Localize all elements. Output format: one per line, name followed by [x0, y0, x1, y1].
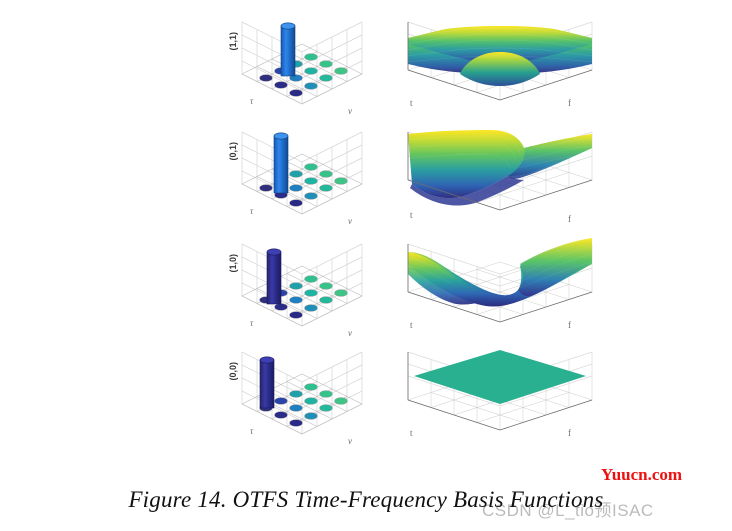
stem-plot-4: τ ν [220, 338, 390, 448]
stem-axis-label-nu-4: ν [348, 436, 352, 446]
figure-caption: Figure 14. OTFS Time-Frequency Basis Fun… [0, 487, 732, 513]
figure-row-1: (1,1) [0, 8, 732, 118]
surface-axis-label-t-4: t [410, 428, 413, 438]
surface-axis-label-t-2: t [410, 210, 413, 220]
stem-axis-label-tau-1: τ [250, 96, 253, 106]
surface-axis-label-f-1: f [568, 98, 571, 108]
surface-mesh-3 [408, 238, 592, 307]
surface-axis-label-t-1: t [410, 98, 413, 108]
stem-plot-2: τ ν [220, 118, 390, 228]
stem-axis-label-nu-1: ν [348, 106, 352, 116]
stem-bar-2 [274, 133, 288, 193]
surface-plot-2: t f [400, 118, 600, 233]
stem-plot-3: τ ν [220, 230, 390, 340]
figure-row-3: (1,0) [0, 230, 732, 340]
stem-plot-svg-2 [220, 118, 390, 228]
stem-plot-1: τ ν [220, 8, 390, 118]
surface-plot-1: t f [400, 8, 600, 123]
watermark-yuucn: Yuucn.com [601, 465, 682, 485]
figure-row-4: (0,0) [0, 338, 732, 448]
surface-plot-3: t f [400, 230, 600, 345]
stem-axis-label-tau-2: τ [250, 206, 253, 216]
stem-axis-label-tau-3: τ [250, 318, 253, 328]
surface-mesh-1 [408, 26, 592, 86]
stem-plot-svg-3 [220, 230, 390, 340]
surface-flat-plane-4 [414, 350, 586, 404]
stem-bar-3 [267, 249, 281, 304]
stem-bar-4 [260, 357, 274, 408]
stem-plot-svg-4 [220, 338, 390, 448]
stem-axis-label-nu-3: ν [348, 328, 352, 338]
surface-axis-label-f-3: f [568, 320, 571, 330]
surface-axis-label-f-4: f [568, 428, 571, 438]
figure-row-2: (0,1) [0, 118, 732, 228]
stem-plot-svg-1 [220, 8, 390, 118]
stem-axis-label-nu-2: ν [348, 216, 352, 226]
surface-plot-4: t f [400, 338, 600, 453]
surface-axis-label-f-2: f [568, 214, 571, 224]
figure-otfs-basis-functions: (1,1) [0, 0, 732, 531]
stem-axis-label-tau-4: τ [250, 426, 253, 436]
surface-axis-label-t-3: t [410, 320, 413, 330]
stem-bar-1 [281, 23, 295, 76]
